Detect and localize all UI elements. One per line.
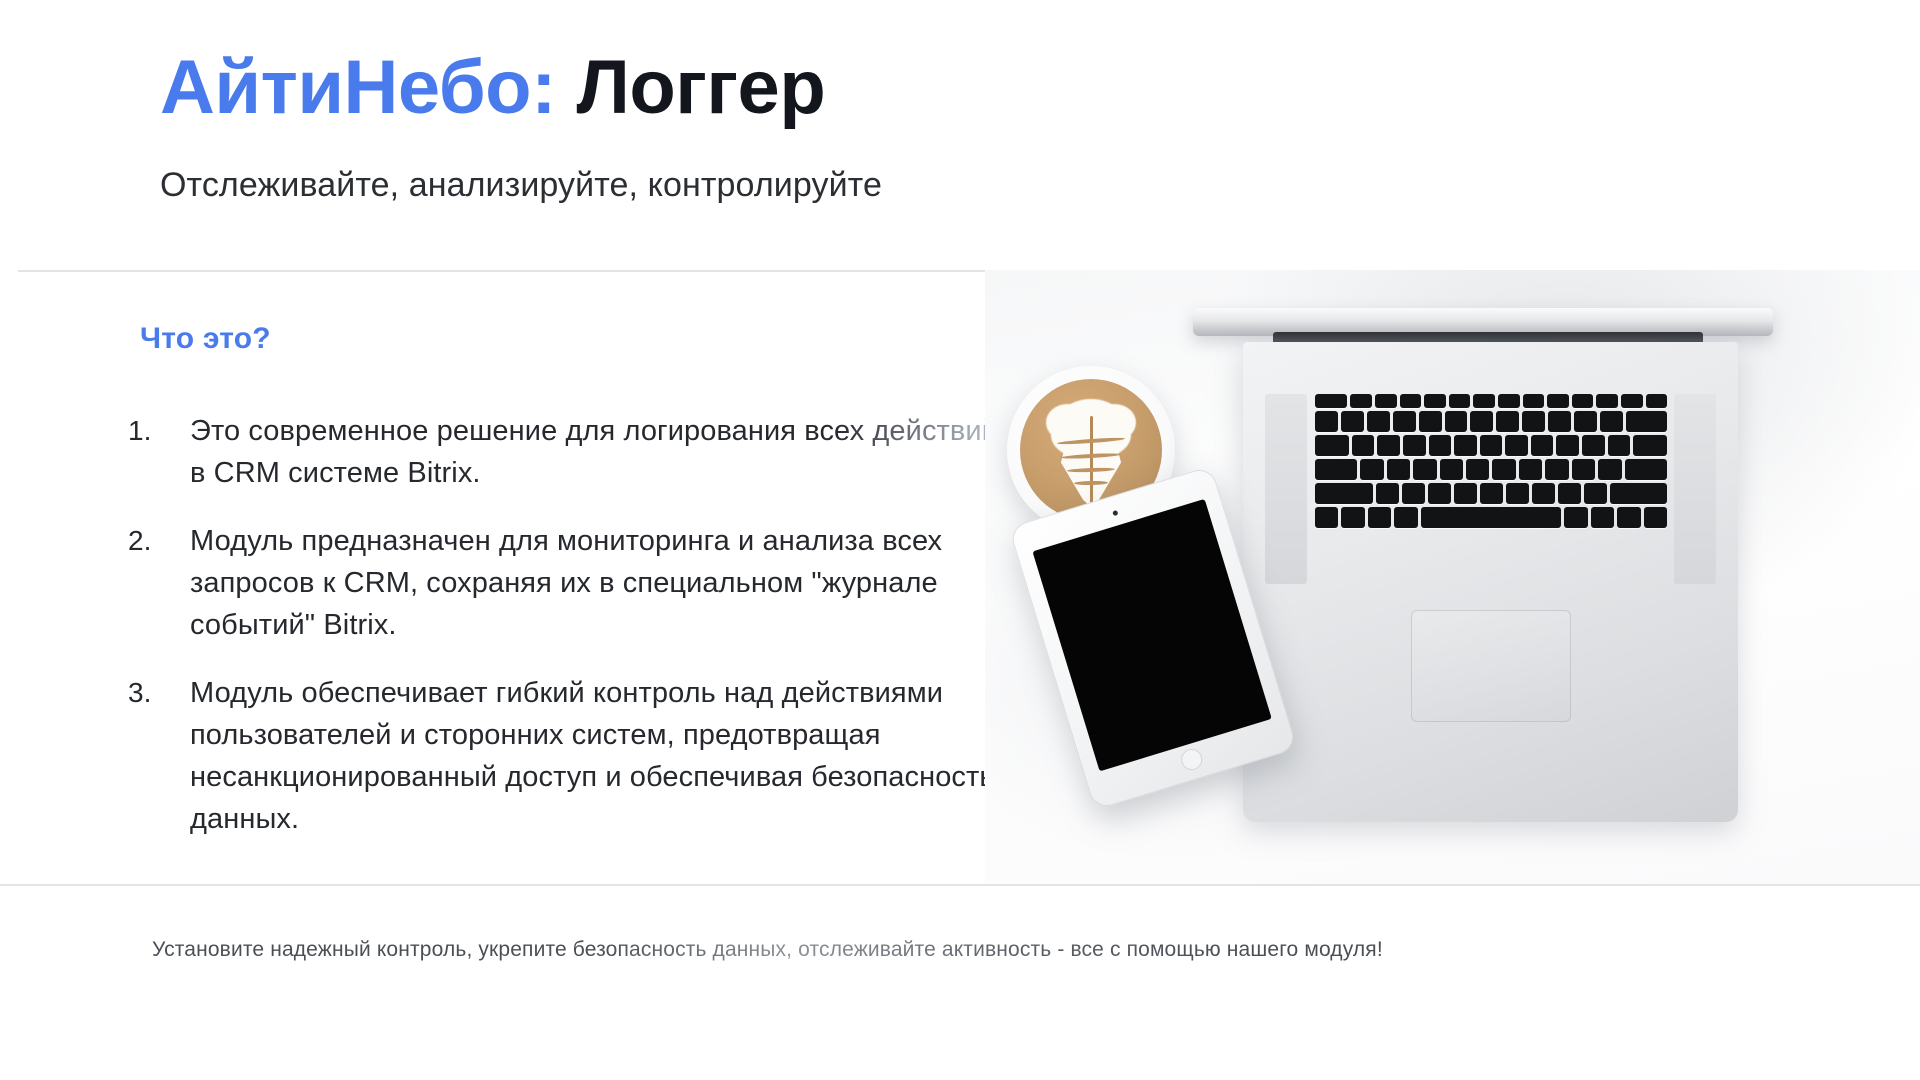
laptop-base: [1243, 342, 1738, 822]
tablet-home-button: [1178, 747, 1204, 773]
page-subtitle: Отслеживайте, анализируйте, контролируйт…: [160, 166, 882, 205]
list-item-text: Модуль предназначен для мониторинга и ан…: [190, 520, 1008, 646]
slide-body: Что это? 1. Это современное решение для …: [0, 270, 1920, 884]
list-item: 1. Это современное решение для логирован…: [128, 410, 1008, 494]
keyboard-row: [1315, 394, 1667, 408]
laptop-illustration: [1203, 292, 1763, 852]
list-item-text: Это современное решение для логирования …: [190, 410, 1008, 494]
list-item-text: Модуль обеспечивает гибкий контроль над …: [190, 672, 1008, 840]
laptop-speaker-left: [1265, 394, 1307, 584]
page-title: АйтиНебо: Логгер: [160, 48, 825, 128]
laptop-speaker-right: [1674, 394, 1716, 584]
list-item: 3. Модуль обеспечивает гибкий контроль н…: [128, 672, 1008, 840]
keyboard-row: [1315, 483, 1667, 504]
keyboard-row: [1315, 435, 1667, 456]
hero-photo: [985, 270, 1920, 884]
list-item: 2. Модуль предназначен для мониторинга и…: [128, 520, 1008, 646]
latte-art-stem: [1090, 416, 1093, 504]
title-brand: АйтиНебо:: [160, 45, 556, 130]
laptop-trackpad: [1411, 610, 1571, 722]
list-item-number: 3.: [128, 672, 190, 714]
list-item-number: 1.: [128, 410, 190, 452]
footer-tagline: Установите надежный контроль, укрепите б…: [152, 935, 1383, 965]
section-heading: Что это?: [140, 322, 271, 356]
slide-header: АйтиНебо: Логгер Отслеживайте, анализиру…: [0, 0, 1920, 270]
keyboard-row: [1315, 411, 1667, 432]
keyboard-row: [1315, 507, 1667, 528]
numbered-list: 1. Это современное решение для логирован…: [128, 410, 1008, 866]
list-item-number: 2.: [128, 520, 190, 562]
keyboard-row: [1315, 459, 1667, 480]
title-product: Логгер: [577, 45, 826, 130]
photo-canvas: [985, 270, 1920, 884]
tablet-camera: [1112, 510, 1118, 516]
laptop-keyboard: [1315, 394, 1667, 584]
slide: АйтиНебо: Логгер Отслеживайте, анализиру…: [0, 0, 1920, 1080]
slide-footer: Установите надежный контроль, укрепите б…: [0, 884, 1920, 1080]
